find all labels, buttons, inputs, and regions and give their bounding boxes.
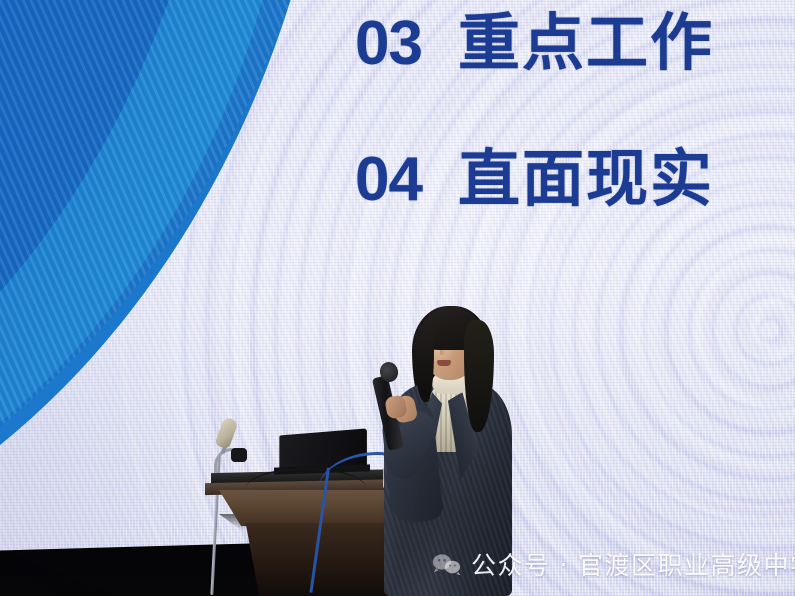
presentation-photo: 03重点工作 04直面现实 — [0, 0, 795, 596]
slide-headline-title: 重点工作 — [458, 6, 714, 79]
speaker-mouth — [437, 360, 451, 366]
watermark-prefix: 公众号 — [471, 546, 551, 582]
watermark-separator: · — [560, 550, 569, 579]
mic-clip — [231, 448, 247, 462]
wechat-icon — [432, 552, 462, 576]
watermark-account: 官渡区职业高级中学 — [578, 546, 795, 582]
slide-headline-title: 直面现实 — [458, 142, 714, 215]
slide-headline-number: 04 — [355, 145, 422, 214]
watermark: 公众号 · 官渡区职业高级中学 — [432, 546, 795, 582]
slide-headline-row: 04直面现实 — [355, 148, 714, 211]
slide-headline-row: 03重点工作 — [355, 12, 714, 75]
slide-headline-number: 03 — [355, 9, 422, 78]
